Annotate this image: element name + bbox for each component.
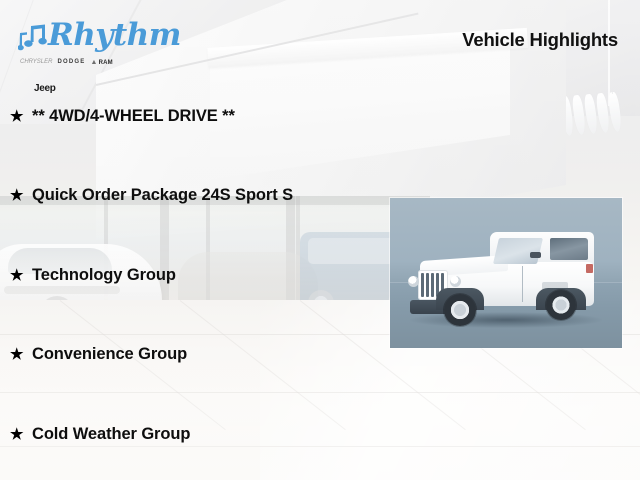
page-title: Vehicle Highlights bbox=[462, 29, 618, 51]
vehicle-photo[interactable] bbox=[390, 198, 622, 348]
star-bullet-icon: ★ bbox=[10, 188, 32, 203]
brand-chrysler: CHRYSLER bbox=[20, 59, 52, 65]
list-item: ★ ** 4WD/4-WHEEL DRIVE ** bbox=[10, 108, 390, 187]
star-bullet-icon: ★ bbox=[10, 109, 32, 124]
star-bullet-icon: ★ bbox=[10, 427, 32, 442]
list-item: ★ Convenience Group bbox=[10, 346, 390, 425]
highlight-label: Technology Group bbox=[32, 267, 176, 284]
vehicle-highlights-slide: Rhythm CHRYSLER DODGE Jeep ▲RAM Vehicle … bbox=[0, 0, 640, 480]
list-item: ★ Technology Group bbox=[10, 267, 390, 346]
highlight-label: ** 4WD/4-WHEEL DRIVE ** bbox=[32, 108, 235, 125]
highlight-label: Cold Weather Group bbox=[32, 426, 190, 443]
list-item: ★ Cold Weather Group bbox=[10, 426, 390, 480]
highlight-label: Convenience Group bbox=[32, 346, 187, 363]
star-bullet-icon: ★ bbox=[10, 268, 32, 283]
dealer-logo-wordmark: Rhythm bbox=[48, 20, 181, 51]
music-note-icon bbox=[18, 24, 52, 54]
brand-ram: ▲RAM bbox=[90, 59, 112, 66]
brand-dodge: DODGE bbox=[57, 59, 85, 65]
highlight-label: Quick Order Package 24S Sport S bbox=[32, 187, 293, 204]
jeep-wrangler-illustration bbox=[404, 226, 610, 330]
brand-strip: CHRYSLER DODGE Jeep ▲RAM bbox=[20, 56, 166, 68]
dealer-logo[interactable]: Rhythm CHRYSLER DODGE Jeep ▲RAM bbox=[18, 14, 168, 72]
vehicle-highlights-list: ★ ** 4WD/4-WHEEL DRIVE ** ★ Quick Order … bbox=[10, 108, 390, 480]
list-item: ★ Quick Order Package 24S Sport S bbox=[10, 187, 390, 266]
star-bullet-icon: ★ bbox=[10, 347, 32, 362]
